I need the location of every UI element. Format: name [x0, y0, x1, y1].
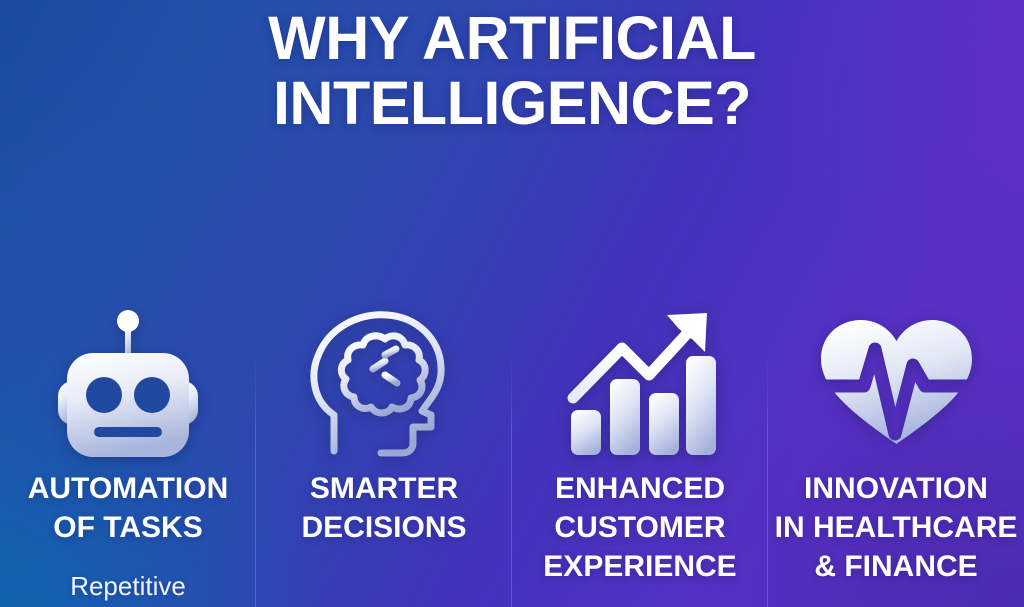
benefit-heading-experience: ENHANCED CUSTOMER EXPERIENCE [543, 469, 736, 586]
heart-pulse-icon [809, 299, 984, 467]
benefit-heading-decisions: SMARTER DECISIONS [301, 469, 466, 547]
page-title: WHY ARTIFICIAL INTELLIGENCE? [0, 6, 1024, 137]
bar-chart-growth-icon [555, 299, 725, 467]
heading-line: SMARTER [301, 469, 466, 508]
heading-line: INNOVATION [775, 469, 1018, 508]
benefit-body-automation: Repetitive work handled by AI [51, 569, 206, 607]
body-line: work handled [51, 603, 206, 607]
page-title-line-2: INTELLIGENCE? [0, 71, 1024, 136]
heading-line: IN HEALTHCARE [775, 508, 1018, 547]
heading-line: AUTOMATION [28, 469, 229, 508]
heading-line: CUSTOMER [543, 508, 736, 547]
heading-line: DECISIONS [301, 508, 466, 547]
heading-line: & FINANCE [775, 547, 1018, 586]
infographic-poster: WHY ARTIFICIAL INTELLIGENCE? [0, 0, 1024, 607]
head-brain-icon [297, 299, 472, 467]
benefit-heading-automation: AUTOMATION OF TASKS [28, 469, 229, 547]
body-line: Data-driven [317, 603, 451, 607]
body-line: Repetitive [51, 569, 206, 604]
benefit-heading-healthcare: INNOVATION IN HEALTHCARE & FINANCE [775, 469, 1018, 586]
page-title-line-1: WHY ARTIFICIAL [0, 6, 1024, 71]
heading-line: OF TASKS [28, 508, 229, 547]
benefit-column-automation: AUTOMATION OF TASKS Repetitive work hand… [0, 299, 256, 607]
benefit-column-experience: ENHANCED CUSTOMER EXPERIENCE Personalize… [512, 299, 768, 607]
heading-line: EXPERIENCE [543, 547, 736, 586]
benefit-body-decisions: Data-driven insights [317, 603, 451, 607]
heading-line: ENHANCED [543, 469, 736, 508]
robot-icon [33, 299, 223, 467]
benefit-columns: AUTOMATION OF TASKS Repetitive work hand… [0, 299, 1024, 607]
benefit-column-decisions: SMARTER DECISIONS Data-driven insights [256, 299, 512, 607]
benefit-column-healthcare: INNOVATION IN HEALTHCARE & FINANCE AI-dr… [768, 299, 1024, 607]
